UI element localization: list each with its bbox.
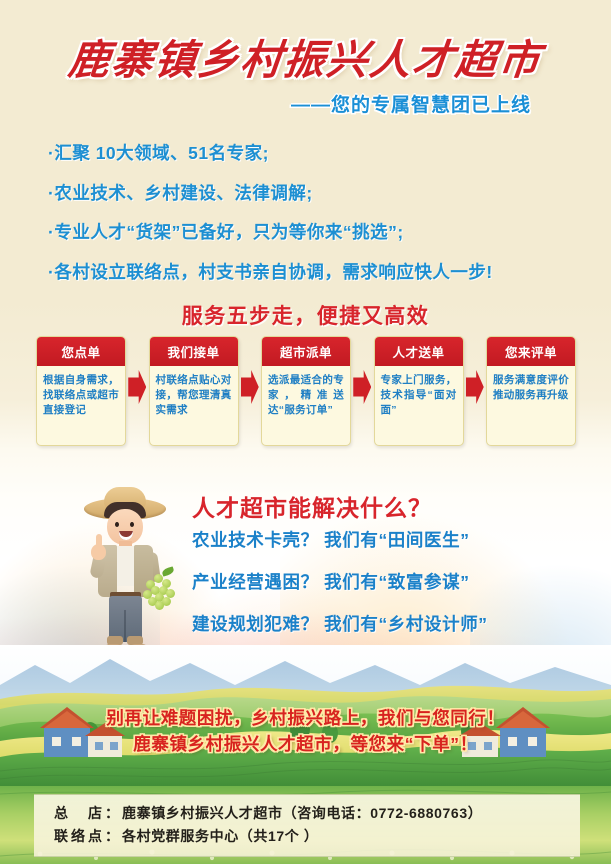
footer-line-contact: 联络点：各村党群服务中心（共17个 ） xyxy=(34,825,580,848)
step-card-5: 您来评单 服务满意度评价推动服务再升级 xyxy=(486,336,576,446)
poster-root: 鹿寨镇乡村振兴人才超市 ——您的专属智慧团已上线 ·汇聚 10大领域、51名专家… xyxy=(0,0,611,864)
step-head-label: 我们接单 xyxy=(150,337,238,366)
qa-section-title: 人才超市能解决什么？ xyxy=(192,489,432,523)
step-body-text: 专家上门服务，技术指导“面对面” xyxy=(375,366,463,445)
footer-store-label: 总 店： xyxy=(54,805,122,821)
slogan-line-1: 别再让难题困扰，乡村振兴路上，我们与您同行！ xyxy=(0,705,611,731)
slogan-line-2: 鹿寨镇乡村振兴人才超市，等您来“下单”！ xyxy=(0,731,611,757)
steps-row: 您点单 根据自身需求，找联络点或超市直接登记 我们接单 村联络点贴心对接，帮您理… xyxy=(36,336,576,446)
step-body-text: 服务满意度评价推动服务再升级 xyxy=(487,366,575,445)
grapes-icon xyxy=(142,572,176,606)
footer-contact-label: 联络点： xyxy=(54,828,122,844)
qa-line: 农业技术卡壳？ 我们有“田间医生” xyxy=(192,527,592,552)
page-subtitle: ——您的专属智慧团已上线 xyxy=(291,90,531,117)
step-head-label: 超市派单 xyxy=(262,337,350,366)
step-card-2: 我们接单 村联络点贴心对接，帮您理清真实需求 xyxy=(149,336,239,446)
right-arrow-icon xyxy=(128,370,146,404)
right-arrow-icon xyxy=(353,370,371,404)
list-item: ·专业人才“货架”已备好，只为等你来“挑选”; xyxy=(48,219,588,244)
footer: 总 店：鹿寨镇乡村振兴人才超市（咨询电话：0772-6880763） 联络点：各… xyxy=(0,786,611,864)
footer-line-store: 总 店：鹿寨镇乡村振兴人才超市（咨询电话：0772-6880763） xyxy=(34,802,580,825)
step-head-label: 人才送单 xyxy=(375,337,463,366)
highlights-list: ·汇聚 10大领域、51名专家; ·农业技术、乡村建设、法律调解; ·专业人才“… xyxy=(48,140,588,298)
footer-info-band: 总 店：鹿寨镇乡村振兴人才超市（咨询电话：0772-6880763） 联络点：各… xyxy=(34,794,580,857)
right-arrow-icon xyxy=(466,370,484,404)
slogan-banner: 别再让难题困扰，乡村振兴路上，我们与您同行！ 鹿寨镇乡村振兴人才超市，等您来“下… xyxy=(0,705,611,757)
list-item: ·农业技术、乡村建设、法律调解; xyxy=(48,180,588,205)
right-arrow-icon xyxy=(241,370,259,404)
page-title: 鹿寨镇乡村振兴人才超市 xyxy=(0,26,611,86)
step-body-text: 村联络点贴心对接，帮您理清真实需求 xyxy=(150,366,238,445)
steps-section-title: 服务五步走，便捷又高效 xyxy=(0,300,611,330)
list-item: ·各村设立联络点，村支书亲自协调，需求响应快人一步! xyxy=(48,259,588,284)
footer-store-value: 鹿寨镇乡村振兴人才超市（咨询电话：0772-6880763） xyxy=(122,805,482,821)
step-head-label: 您点单 xyxy=(37,337,125,366)
qa-line: 建设规划犯难？ 我们有“乡村设计师” xyxy=(192,611,592,636)
qa-line: 产业经营遇困？ 我们有“致富参谋” xyxy=(192,569,592,594)
step-card-4: 人才送单 专家上门服务，技术指导“面对面” xyxy=(374,336,464,446)
step-card-1: 您点单 根据自身需求，找联络点或超市直接登记 xyxy=(36,336,126,446)
step-card-3: 超市派单 选派最适合的专家，精准送达“服务订单” xyxy=(261,336,351,446)
step-body-text: 根据自身需求，找联络点或超市直接登记 xyxy=(37,366,125,445)
footer-contact-value: 各村党群服务中心（共17个 ） xyxy=(122,828,318,844)
step-body-text: 选派最适合的专家，精准送达“服务订单” xyxy=(262,366,350,445)
list-item: ·汇聚 10大领域、51名专家; xyxy=(48,140,588,165)
step-head-label: 您来评单 xyxy=(487,337,575,366)
